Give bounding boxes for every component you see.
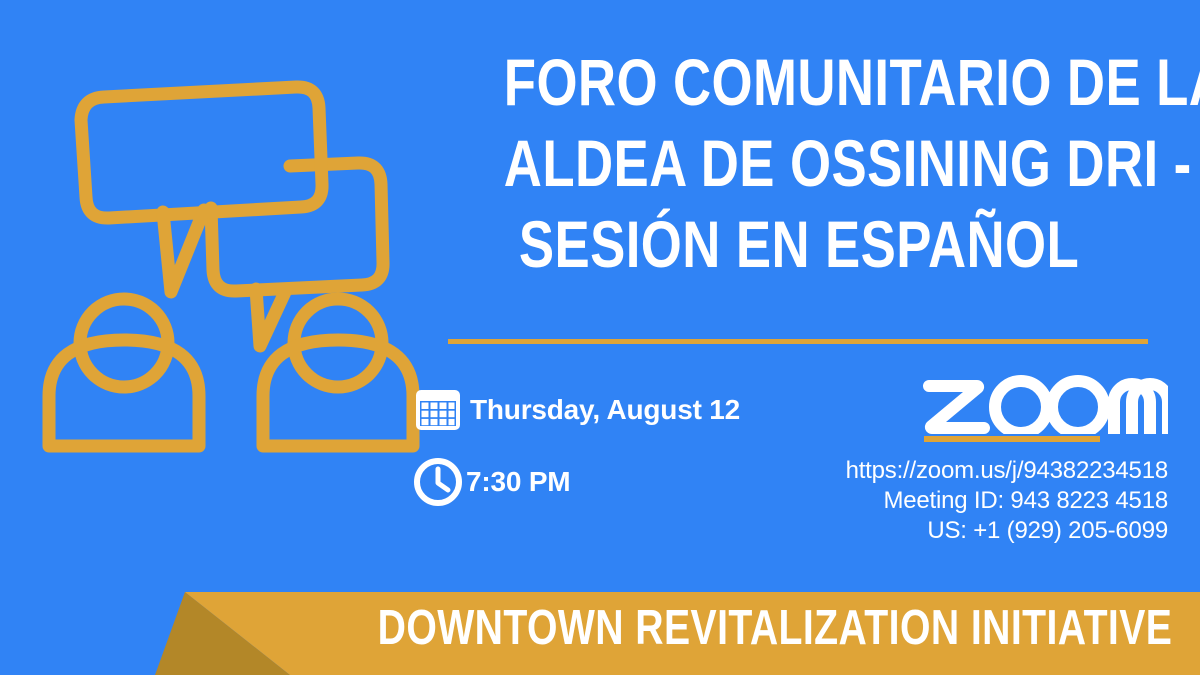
zoom-dial-in: US: +1 (929) 205-6099	[768, 516, 1168, 546]
zoom-logo	[768, 372, 1168, 444]
event-flyer: FORO COMUNITARIO DE LA ALDEA DE OSSINING…	[0, 0, 1200, 675]
two-people-with-speech-bubbles-icon	[28, 46, 418, 456]
page-title: FORO COMUNITARIO DE LA ALDEA DE OSSINING…	[430, 42, 1168, 285]
bottom-banner: DOWNTOWN REVITALIZATION INITIATIVE	[0, 580, 1200, 675]
clock-icon	[412, 456, 464, 508]
zoom-details: https://zoom.us/j/94382234518 Meeting ID…	[768, 456, 1168, 546]
gold-divider-rule	[448, 339, 1148, 344]
event-datetime: Thursday, August 12 7:30 PM	[412, 384, 772, 528]
zoom-meeting-info: https://zoom.us/j/94382234518 Meeting ID…	[768, 372, 1168, 546]
banner-label: DOWNTOWN REVITALIZATION INITIATIVE	[377, 602, 1172, 654]
title-line-2: ALDEA DE OSSINING DRI -	[504, 123, 1094, 204]
zoom-logo-underline	[924, 436, 1100, 442]
zoom-meeting-id: Meeting ID: 943 8223 4518	[768, 486, 1168, 516]
zoom-wordmark-icon	[923, 372, 1168, 434]
event-date-row: Thursday, August 12	[412, 384, 772, 436]
title-line-1: FORO COMUNITARIO DE LA	[504, 42, 1094, 123]
zoom-url[interactable]: https://zoom.us/j/94382234518	[768, 456, 1168, 486]
calendar-icon	[412, 384, 464, 436]
event-date-label: Thursday, August 12	[470, 395, 740, 425]
banner-text-wrap: DOWNTOWN REVITALIZATION INITIATIVE	[0, 580, 1200, 675]
title-line-3: SESIÓN EN ESPAÑOL	[504, 204, 1094, 285]
event-time-row: 7:30 PM	[412, 456, 772, 508]
event-time-label: 7:30 PM	[466, 467, 570, 497]
